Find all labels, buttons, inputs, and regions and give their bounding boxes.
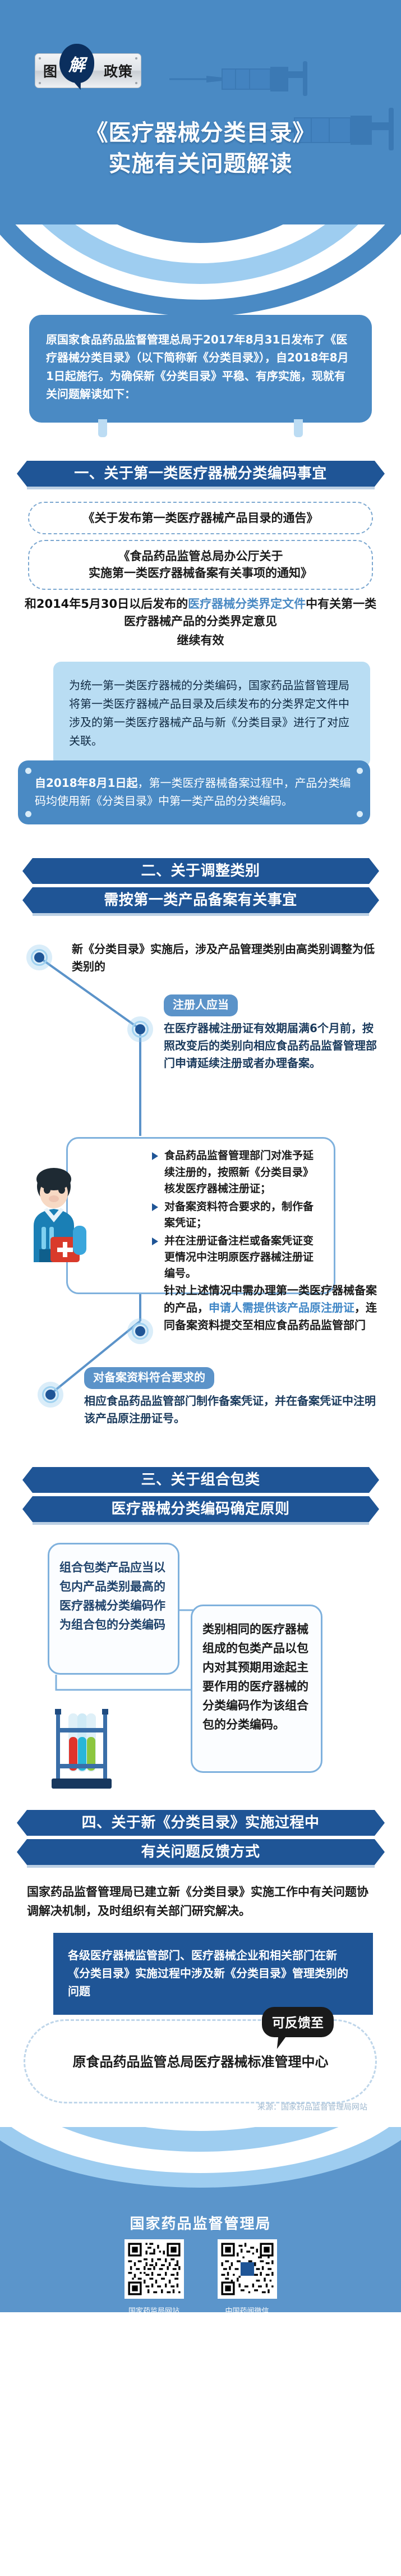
compliant-materials-pill: 对备案资料符合要求的 [84, 1367, 214, 1389]
notice-box-2-line2: 实施第一类医疗器械备案有关事项的通知》 [39, 565, 362, 581]
timeline-item-4: 对备案资料符合要求的 相应食品药品监管部门制作备案凭证，并在备案凭证中注明该产品… [84, 1367, 376, 1427]
source-note: 来源：国家药品监督管理局网站 [257, 2101, 367, 2112]
timeline-item-2: 注册人应当 在医疗器械注册证有效期届满6个月前，按照改变后的类别向相应食品药品监… [164, 994, 377, 1072]
notice-box-2: 《食品药品监管总局办公厅关于 实施第一类医疗器械备案有关事项的通知》 [28, 540, 373, 590]
authority-actions-card: 食品药品监督管理部门对准予延续注册的，按照新《分类目录》核发医疗器械注册证； 对… [66, 1137, 335, 1294]
timeline-node-4 [38, 1382, 63, 1408]
qr-item[interactable]: 中国药闻微信 [218, 2239, 277, 2312]
intro-text: 原国家食品药品监督管理总局于2017年8月31日发布了《医疗器械分类目录》（以下… [46, 333, 349, 401]
medical-staff-illustration [17, 1164, 93, 1262]
timeline-item-2-text: 在医疗器械注册证有效期届满6个月前，按照改变后的类别向相应食品药品监督管理部门申… [164, 1020, 377, 1072]
section-2-heading: 二、关于调整类别 需按第一类产品备案有关事宜 [0, 858, 401, 916]
combo-rule-right-text: 类别相同的医疗器械组成的包类产品以包内对其预期用途起主要作用的医疗器械的分类编码… [202, 1622, 308, 1731]
notice-box-1: 《关于发布第一类医疗器械产品目录的通告》 [28, 502, 373, 534]
timeline-node-3 [127, 1318, 153, 1344]
logo-blob-jie: 解 [59, 44, 94, 83]
effective-date-plate: 自2018年8月1日起，第一类医疗器械备案过程中，产品分类编码均使用新《分类目录… [18, 760, 370, 824]
section-1-heading: 一、关于第一类医疗器械分类编码事宜 [0, 461, 401, 489]
qr-code-row: 国家药监局网站 [0, 2239, 401, 2312]
lead-mid: 以后发布的 [129, 597, 188, 611]
section-2-title-line1: 二、关于调整类别 [33, 858, 369, 884]
lead-prefix: 和 [25, 597, 36, 611]
timeline-item-3-text: 针对上述情况中需办理第一类医疗器械备案的产品，申请人需提供该产品原注册证，连同备… [164, 1282, 377, 1334]
timeline-item-1-text: 新《分类目录》实施后，涉及产品管理类别由高类别调整为低类别的 [72, 941, 375, 975]
feedback-scope-text: 各级医疗器械监管部门、医疗器械企业和相关部门在新《分类目录》实施过程中涉及新《分… [68, 1949, 348, 1998]
qr-label: 中国药闻微信 [218, 2305, 277, 2312]
page-title-line2: 实施有关问题解读 [0, 149, 401, 180]
notice-box-1-text: 《关于发布第一类医疗器械产品目录的通告》 [83, 511, 319, 525]
intro-card-leg [98, 419, 107, 437]
lead-date: 2014年5月30日 [36, 597, 129, 611]
section-4-paragraph: 国家药品监督管理局已建立新《分类目录》实施工作中有关问题协调解决机制，及时组织有… [27, 1882, 374, 1920]
timeline-item-1: 新《分类目录》实施后，涉及产品管理类别由高类别调整为低类别的 [72, 941, 375, 975]
timeline-item-3: 针对上述情况中需办理第一类医疗器械备案的产品，申请人需提供该产品原注册证，连同备… [164, 1282, 377, 1334]
logo-text-center: 解 [68, 51, 85, 76]
test-tube-rack-illustration [44, 1706, 119, 1795]
section-4-title-line1: 四、关于新《分类目录》实施过程中 [27, 1810, 375, 1836]
section-1-lead: 和2014年5月30日以后发布的医疗器械分类界定文件中有关第一类医疗器械产品的分… [22, 595, 379, 650]
section-4-heading: 四、关于新《分类目录》实施过程中 有关问题反馈方式 [0, 1810, 401, 1868]
section-2-timeline: 新《分类目录》实施后，涉及产品管理类别由高类别调整为低类别的 注册人应当 在医疗… [0, 928, 401, 1495]
qr-label: 国家药监局网站 [125, 2305, 184, 2312]
combo-rule-box-left: 组合包类产品应当以包内产品类别最高的医疗器械分类编码作为组合包的分类编码 [48, 1543, 179, 1675]
footer: 国家药品监督管理局 [0, 2127, 401, 2312]
page-title: 《医疗器械分类目录》 实施有关问题解读 [0, 118, 401, 180]
intro-card: 原国家食品药品监督管理总局于2017年8月31日发布了《医疗器械分类目录》（以下… [29, 315, 372, 423]
lead-blue-2: 文件 [282, 597, 306, 611]
qr-item[interactable]: 国家药监局网站 [125, 2239, 184, 2312]
section-4-paragraph-text: 国家药品监督管理局已建立新《分类目录》实施工作中有关问题协调解决机制，及时组织有… [27, 1885, 368, 1918]
intro-card-leg [294, 419, 303, 437]
section-3-heading: 三、关于组合包类 医疗器械分类编码确定原则 [0, 1467, 401, 1525]
hero-header: 图 政策 解 [0, 0, 401, 224]
syringe-icon [168, 59, 314, 98]
footer-agency-name: 国家药品监督管理局 [0, 2212, 401, 2233]
unified-coding-box: 为统一第一类医疗器械的分类编码，国家药品监督管理局将第一类医疗器械产品目录及后续… [53, 662, 370, 767]
section-3-title-line1: 三、关于组合包类 [33, 1467, 369, 1493]
section-2-title-line2: 需按第一类产品备案有关事宜 [33, 887, 369, 913]
timeline-item-3-accent: 申请人需提供该产品原注册证 [209, 1301, 354, 1314]
section-3-content: 组合包类产品应当以包内产品类别最高的医疗器械分类编码作为组合包的分类编码 类别相… [0, 1537, 401, 1807]
unified-coding-text: 为统一第一类医疗器械的分类编码，国家药品监督管理局将第一类医疗器械产品目录及后续… [69, 679, 349, 748]
infographic-page: 图 政策 解 [0, 0, 401, 2312]
section-1-title: 一、关于第一类医疗器械分类编码事宜 [27, 461, 375, 487]
qr-code-icon [125, 2239, 184, 2299]
registrant-pill: 注册人应当 [164, 994, 238, 1016]
page-title-line1: 《医疗器械分类目录》 [0, 118, 401, 149]
feedback-bubble: 可反馈至 [262, 2007, 334, 2037]
list-item: 并在注册证备注栏或备案凭证变更情况中注明原医疗器械注册证编号。 [152, 1233, 324, 1282]
combo-rule-box-right: 类别相同的医疗器械组成的包类产品以包内对其预期用途起主要作用的医疗器械的分类编码… [191, 1605, 322, 1773]
logo-text-right: 政策 [104, 61, 133, 81]
timeline-item-4-text: 相应食品药品监管部门制作备案凭证，并在备案凭证中注明该产品原注册证号。 [84, 1392, 376, 1427]
authority-actions-list: 食品药品监督管理部门对准予延续注册的，按照新《分类目录》核发医疗器械注册证； 对… [152, 1148, 324, 1282]
section-3-title-line2: 医疗器械分类编码确定原则 [33, 1496, 369, 1522]
combo-rule-left-text: 组合包类产品应当以包内产品类别最高的医疗器械分类编码作为组合包的分类编码 [59, 1561, 165, 1631]
lead-emphasis: 继续有效 [22, 632, 379, 650]
lead-blue-1: 医疗器械分类界定 [188, 597, 282, 611]
list-item: 对备案资料符合要求的，制作备案凭证； [152, 1199, 324, 1232]
list-item: 食品药品监督管理部门对准予延续注册的，按照新《分类目录》核发医疗器械注册证； [152, 1148, 324, 1197]
effective-date-bold: 自2018年8月1日起 [35, 776, 138, 790]
feedback-target-text: 原食品药品监管总局医疗器械标准管理中心 [0, 2051, 401, 2070]
timeline-node-1 [26, 945, 52, 970]
logo-text-left: 图 [43, 61, 58, 81]
feedback-target-area: 可反馈至 原食品药品监管总局医疗器械标准管理中心 来源：国家药品监督管理局网站 [0, 1999, 401, 2111]
section-4-title-line2: 有关问题反馈方式 [27, 1839, 375, 1865]
notice-box-2-line1: 《食品药品监管总局办公厅关于 [39, 548, 362, 565]
timeline-node-2 [127, 1016, 153, 1042]
qr-code-icon [218, 2239, 277, 2299]
